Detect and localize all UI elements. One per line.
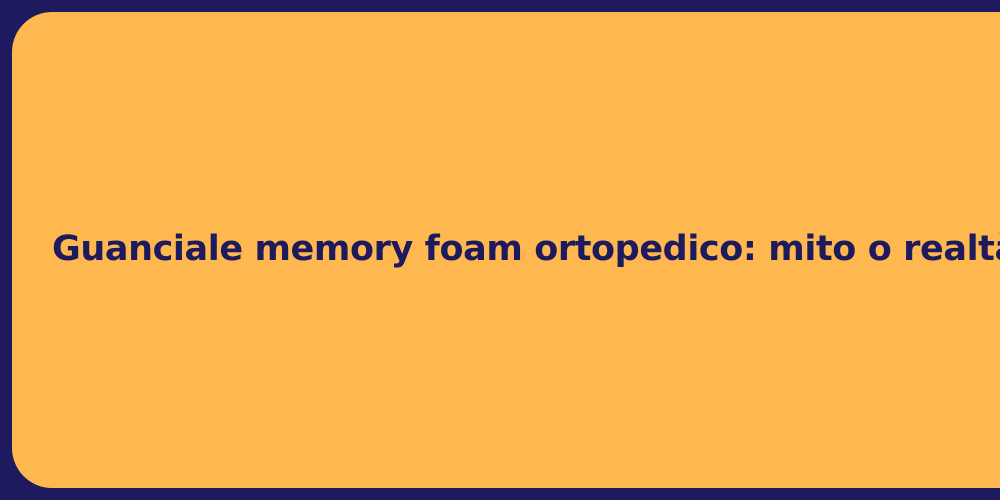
banner-root: Guanciale memory foam ortopedico: mito o… [0, 0, 1000, 500]
banner-card: Guanciale memory foam ortopedico: mito o… [12, 12, 1000, 488]
page-title: Guanciale memory foam ortopedico: mito o… [52, 228, 1000, 272]
